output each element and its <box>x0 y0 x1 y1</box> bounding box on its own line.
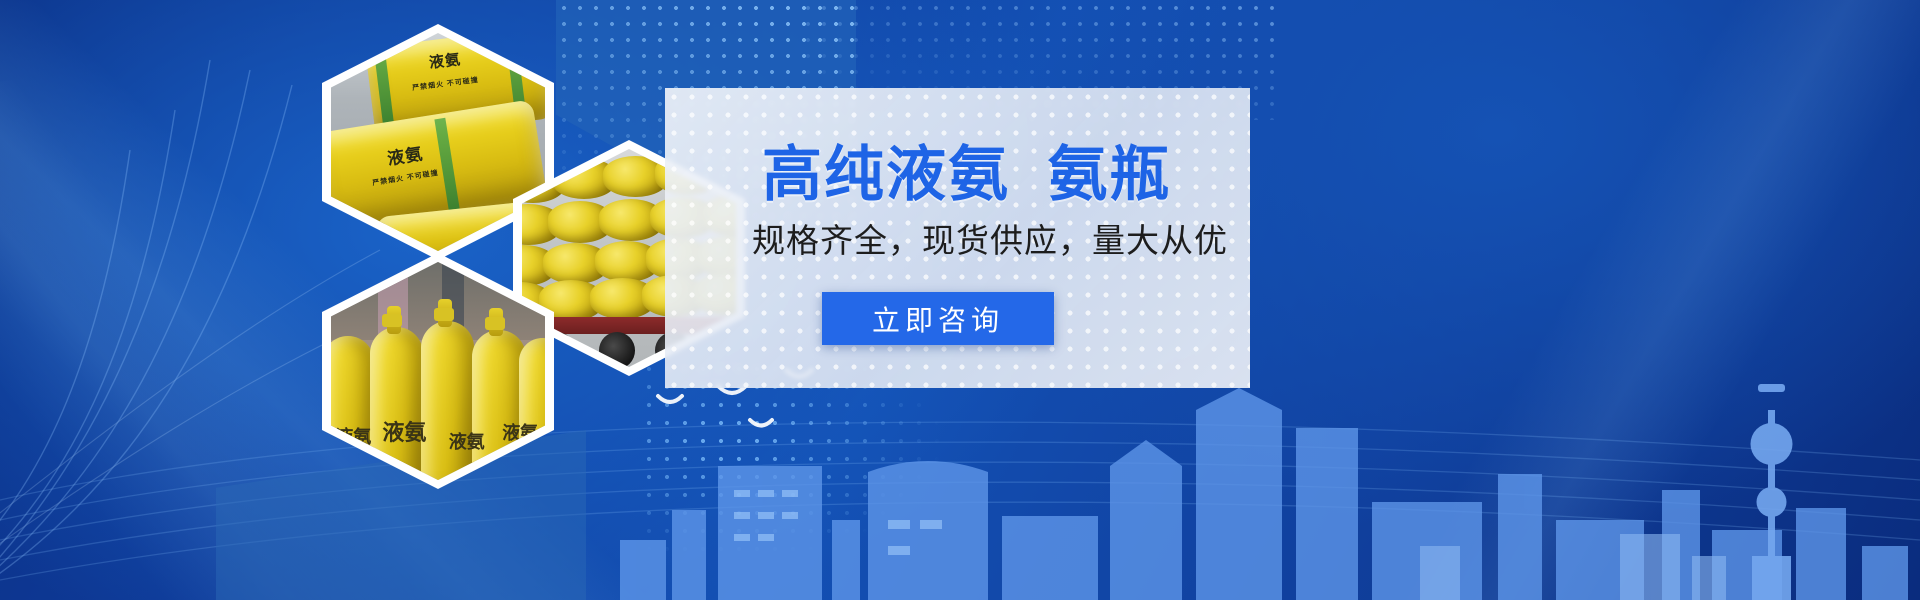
photo-upright-ammonia-bottles: 液氨 液氨 液氨 液氨 <box>331 262 545 480</box>
photo-tile-upright-bottles: 液氨 液氨 液氨 液氨 <box>322 253 554 489</box>
bottle-label-2: 液氨 <box>382 415 426 447</box>
page-subtitle: 规格齐全，现货供应，量大从优 <box>752 224 1228 257</box>
page-title: 高纯液氨 氨瓶 <box>762 145 1171 205</box>
bottle-label-3: 液氨 <box>449 428 485 454</box>
bottle-label-1: 液氨 <box>335 423 371 449</box>
tower-icon <box>1751 384 1793 600</box>
hero-banner: 液氨 严禁烟火 不可碰撞 液氨 严禁烟火 不可碰撞 <box>0 0 1920 600</box>
consult-now-button[interactable]: 立即咨询 <box>822 292 1054 345</box>
bottle-label-4: 液氨 <box>502 419 538 445</box>
